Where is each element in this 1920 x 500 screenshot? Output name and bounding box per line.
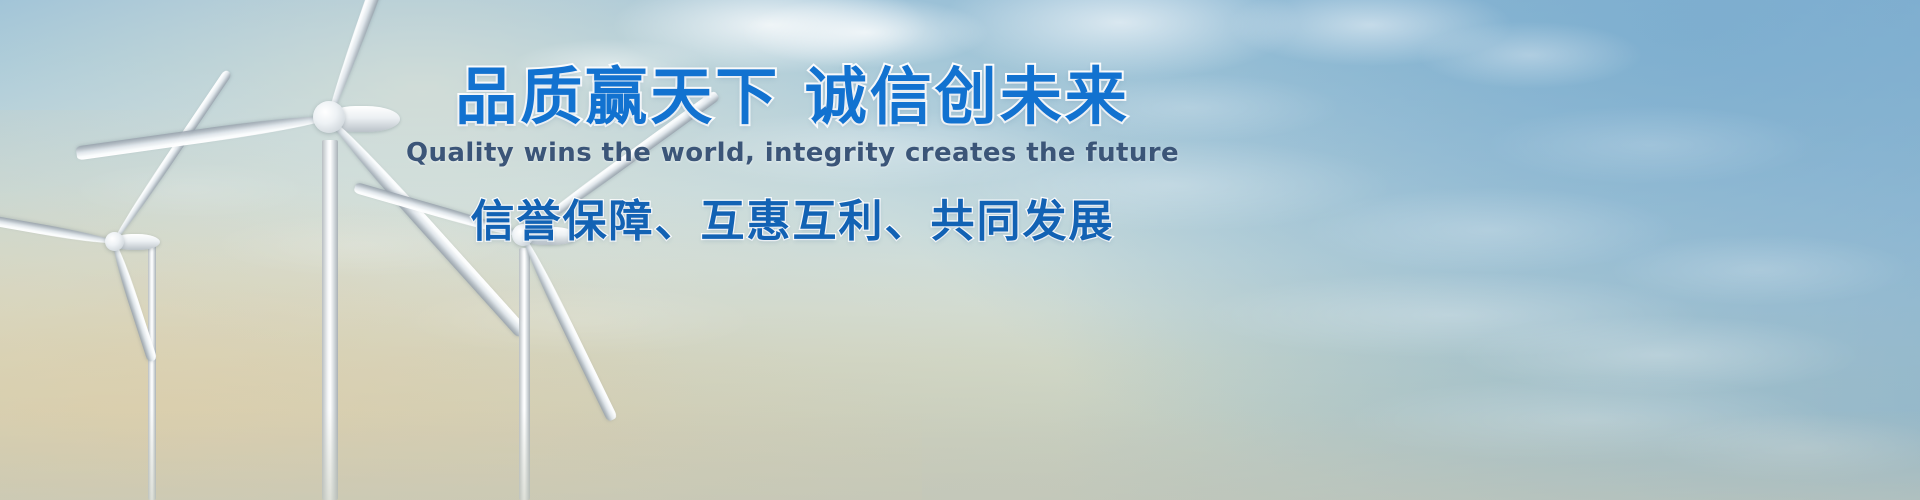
sky-blue-overlay [768,0,1920,500]
promotional-banner: 品质赢天下 诚信创未来 Quality wins the world, inte… [0,0,1920,500]
